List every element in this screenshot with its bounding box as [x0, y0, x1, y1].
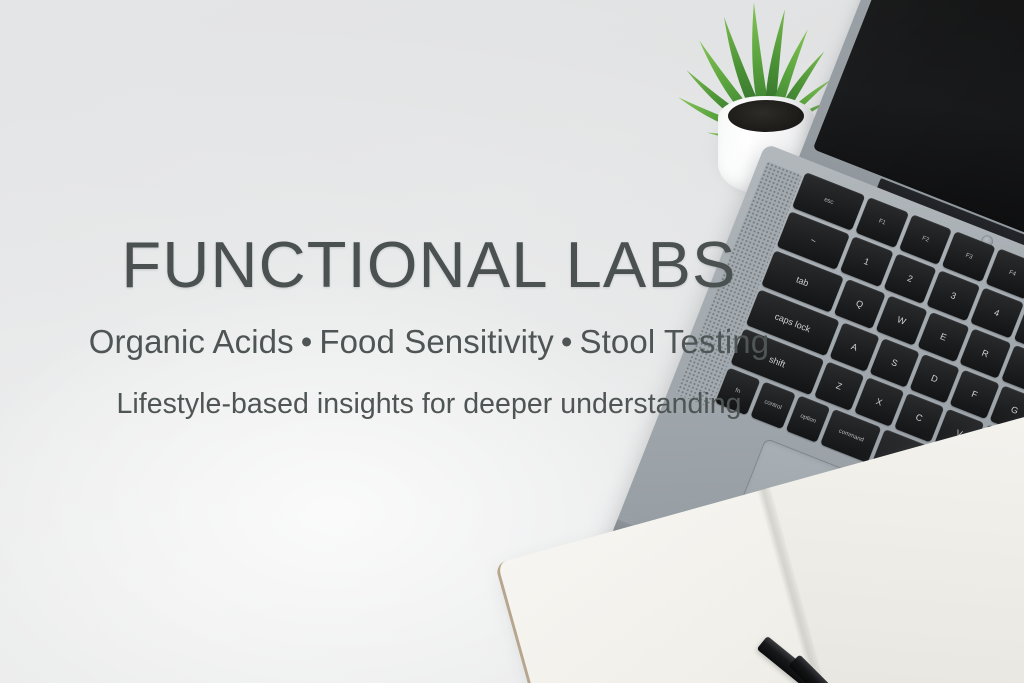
subtitle-part-3: Stool Testing [580, 323, 770, 360]
tagline: Lifestyle-based insights for deeper unde… [0, 390, 858, 419]
headline-block: FUNCTIONAL LABS Organic Acids•Food Sensi… [0, 232, 1024, 419]
flat-lay-banner: esc F1 F2 F3 F4 F5 F6 ~ 1 2 3 4 5 6 tab … [0, 0, 1024, 683]
bullet-separator-2: • [554, 323, 580, 360]
subtitle: Organic Acids•Food Sensitivity•Stool Tes… [0, 325, 858, 358]
page-title: FUNCTIONAL LABS [0, 232, 858, 297]
subtitle-part-1: Organic Acids [89, 323, 294, 360]
bullet-separator-1: • [294, 323, 320, 360]
subtitle-part-2: Food Sensitivity [319, 323, 554, 360]
